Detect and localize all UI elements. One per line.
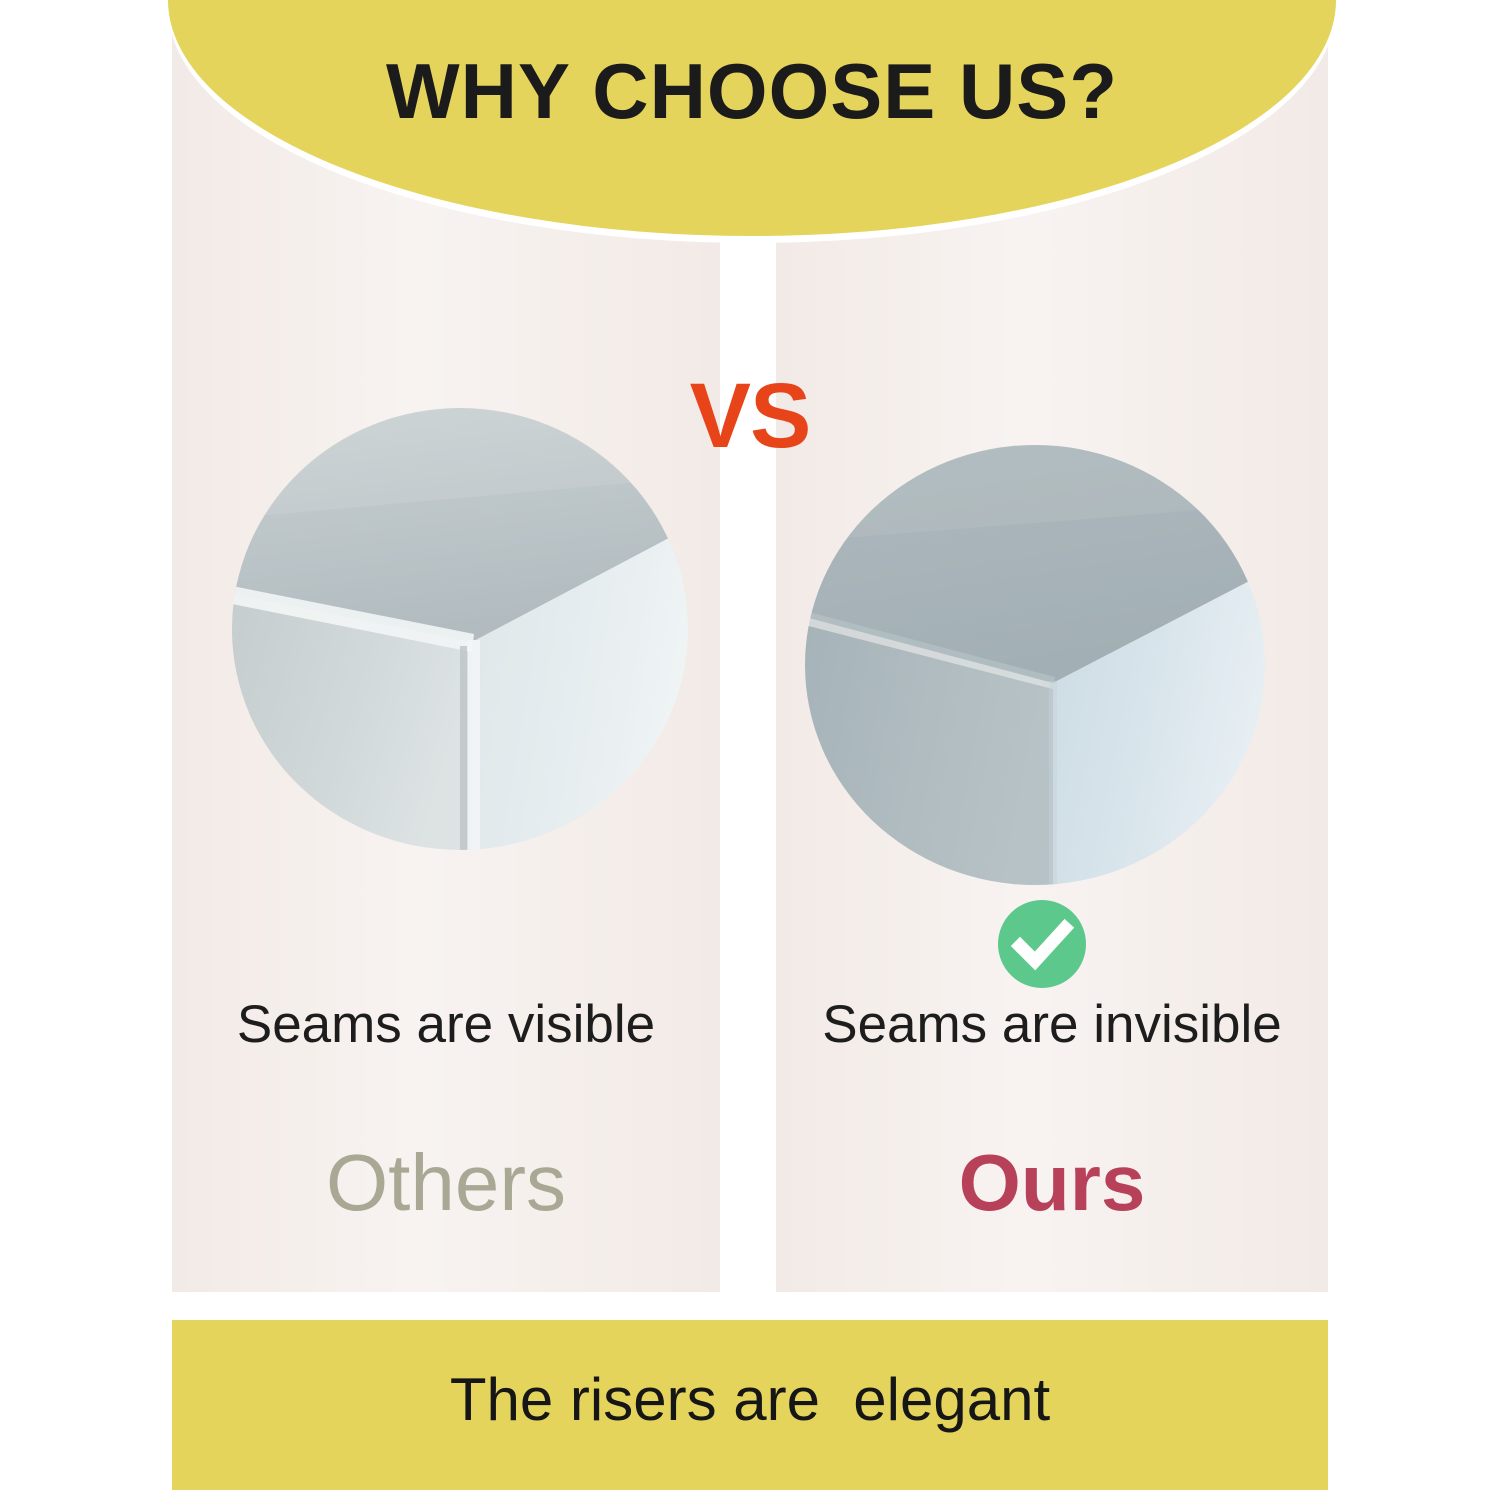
furniture-corner-seam-invisible-illustration <box>805 445 1265 885</box>
page-title: WHY CHOOSE US? <box>168 52 1336 130</box>
caption-ours: Seams are invisible <box>776 998 1328 1051</box>
versus-label: VS <box>0 370 1500 462</box>
brand-label-others: Others <box>172 1143 720 1223</box>
product-photo-ours <box>805 445 1265 885</box>
product-photo-others <box>232 408 688 850</box>
check-icon <box>998 900 1086 988</box>
caption-others: Seams are visible <box>172 998 720 1051</box>
brand-label-ours: Ours <box>776 1143 1328 1223</box>
check-badge <box>998 900 1086 988</box>
furniture-corner-seam-visible-illustration <box>232 408 688 850</box>
footer-tagline: The risers are elegant <box>172 1370 1328 1430</box>
infographic-canvas: VS Seams are visible Seams are invisible… <box>0 0 1500 1500</box>
footer-banner: The risers are elegant <box>172 1320 1328 1490</box>
